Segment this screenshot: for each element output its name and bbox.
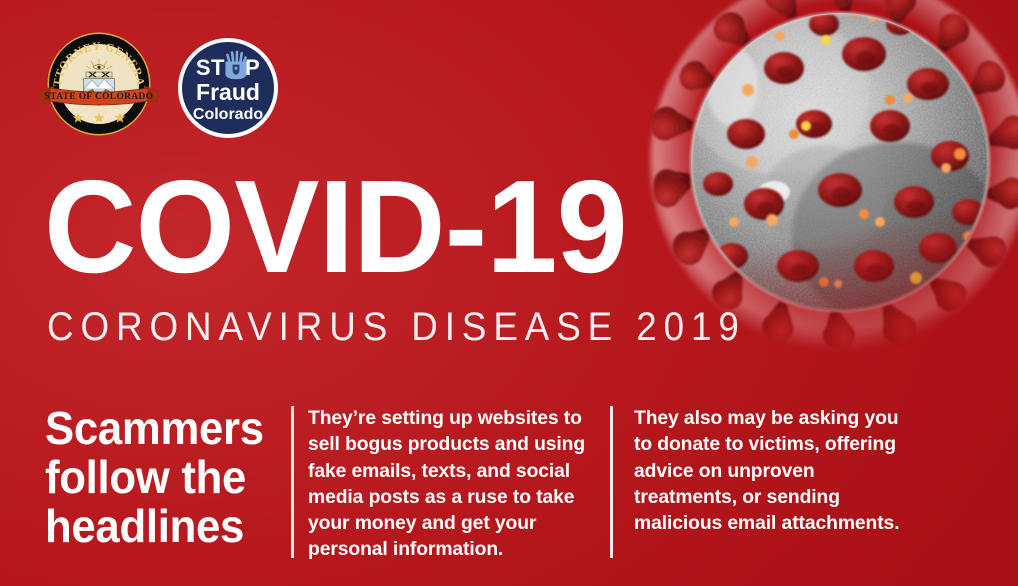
column-divider-1 bbox=[291, 406, 294, 558]
logo-row: ATTORNEY GENERAL OF COLORADO bbox=[38, 34, 278, 142]
callout-column-one: They’re setting up websites to sell bogu… bbox=[308, 405, 597, 563]
stop-hand-icon bbox=[225, 56, 245, 80]
stop-fraud-line1: ST P bbox=[196, 56, 260, 80]
stop-fraud-st-label: ST bbox=[196, 57, 225, 79]
star-icon bbox=[93, 112, 105, 124]
sars-cov-2-virus-illustration bbox=[628, 0, 1018, 416]
page-subtitle: CORONAVIRUS DISEASE 2019 bbox=[47, 306, 746, 348]
seal-banner: STATE OF COLORADO bbox=[40, 86, 158, 106]
page-title: COVID-19 bbox=[44, 168, 627, 286]
callout-lede: Scammers follow the headlines bbox=[45, 404, 264, 551]
colorado-attorney-general-seal: ATTORNEY GENERAL OF COLORADO bbox=[38, 34, 160, 142]
stop-fraud-line3: Colorado bbox=[193, 106, 263, 123]
callout-column-two: They also may be asking you to donate to… bbox=[634, 405, 909, 536]
column-divider-2 bbox=[610, 406, 613, 558]
stop-fraud-line2: Fraud bbox=[196, 81, 260, 104]
seal-banner-label: STATE OF COLORADO bbox=[45, 92, 154, 102]
seal-stars bbox=[72, 112, 126, 124]
star-icon bbox=[72, 112, 84, 124]
covid19-scam-alert-poster: ATTORNEY GENERAL OF COLORADO bbox=[0, 0, 1018, 586]
star-icon bbox=[114, 112, 126, 124]
stop-fraud-colorado-badge[interactable]: ST P bbox=[178, 38, 278, 138]
